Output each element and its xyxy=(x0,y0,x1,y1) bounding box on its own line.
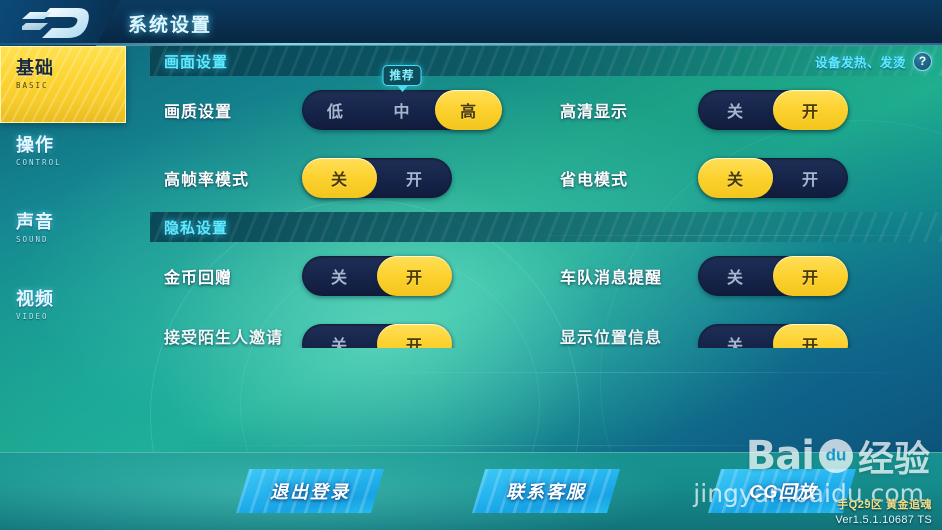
power-saving-off[interactable]: 关 xyxy=(698,158,773,198)
coin-gift-on[interactable]: 开 xyxy=(377,256,452,296)
settings-row: 接受陌生人邀请 关 开 显示位置信息 关 开 xyxy=(150,310,942,348)
high-framerate-off[interactable]: 关 xyxy=(302,158,377,198)
device-heat-label: 设备发热、发烫 xyxy=(815,52,906,71)
sidebar-item-label: 操作 xyxy=(16,135,126,156)
section-title: 画面设置 xyxy=(164,51,228,72)
page-title: 系统设置 xyxy=(128,0,212,46)
sidebar-item-sublabel: BASIC xyxy=(16,81,126,90)
setting-label: 车队消息提醒 xyxy=(546,264,698,288)
sidebar-item-sound[interactable]: 声音 SOUND xyxy=(0,200,126,277)
high-framerate-toggle[interactable]: 关 开 xyxy=(302,158,452,198)
hd-display-toggle[interactable]: 关 开 xyxy=(698,90,848,130)
settings-row: 画质设置 推荐 低 中 高 高清显示 关 开 xyxy=(150,76,942,144)
settings-row: 金币回赠 关 开 车队消息提醒 关 开 xyxy=(150,242,942,310)
setting-quality: 画质设置 推荐 低 中 高 xyxy=(150,90,546,130)
show-location-toggle[interactable]: 关 开 xyxy=(698,324,848,348)
setting-label: 金币回赠 xyxy=(150,264,302,288)
page-title-text: 系统设置 xyxy=(128,10,212,37)
setting-label: 显示位置信息 xyxy=(546,310,698,348)
stranger-invite-toggle[interactable]: 关 开 xyxy=(302,324,452,348)
setting-hd-display: 高清显示 关 开 xyxy=(546,90,942,130)
sidebar-item-sublabel: SOUND xyxy=(16,235,126,244)
server-name: 手Q29区 黄金追魂 xyxy=(835,496,932,512)
logout-button[interactable]: 退出登录 xyxy=(236,469,384,513)
device-heat-help[interactable]: 设备发热、发烫 ? xyxy=(815,46,932,76)
question-mark-icon[interactable]: ? xyxy=(913,52,932,71)
show-location-off[interactable]: 关 xyxy=(698,324,773,348)
setting-label: 画质设置 xyxy=(150,98,302,122)
power-saving-on[interactable]: 开 xyxy=(773,158,848,198)
team-message-toggle[interactable]: 关 开 xyxy=(698,256,848,296)
version-text: Ver1.5.1.10687 TS xyxy=(835,514,932,526)
quality-option-high[interactable]: 高 xyxy=(435,90,502,130)
section-header-display: 画面设置 设备发热、发烫 ? xyxy=(150,46,942,76)
setting-coin-gift: 金币回赠 关 开 xyxy=(150,256,546,296)
setting-team-message: 车队消息提醒 关 开 xyxy=(546,256,942,296)
game-settings-screen: 系统设置 基础 BASIC 操作 CONTROL 声音 SOUND 视频 VID… xyxy=(0,0,942,530)
sidebar-item-sublabel: CONTROL xyxy=(16,158,126,167)
coin-gift-toggle[interactable]: 关 开 xyxy=(302,256,452,296)
section-header-privacy: 隐私设置 xyxy=(150,212,942,242)
logout-button-label: 退出登录 xyxy=(270,478,350,504)
setting-label: 高清显示 xyxy=(546,98,698,122)
quality-option-medium[interactable]: 中 xyxy=(369,90,436,130)
hd-display-on[interactable]: 开 xyxy=(773,90,848,130)
section-rows-privacy: 金币回赠 关 开 车队消息提醒 关 开 接受陌生人邀请 xyxy=(150,242,942,348)
contact-support-button-label: 联系客服 xyxy=(506,478,586,504)
setting-stranger-invite: 接受陌生人邀请 关 开 xyxy=(150,310,546,348)
setting-power-saving: 省电模式 关 开 xyxy=(546,158,942,198)
setting-label: 高帧率模式 xyxy=(150,166,302,190)
stranger-invite-off[interactable]: 关 xyxy=(302,324,377,348)
sidebar-item-control[interactable]: 操作 CONTROL xyxy=(0,123,126,200)
sidebar-item-label: 基础 xyxy=(16,58,126,79)
settings-row: 高帧率模式 关 开 省电模式 关 开 xyxy=(150,144,942,212)
contact-support-button[interactable]: 联系客服 xyxy=(472,469,620,513)
show-location-on[interactable]: 开 xyxy=(773,324,848,348)
team-message-off[interactable]: 关 xyxy=(698,256,773,296)
team-message-on[interactable]: 开 xyxy=(773,256,848,296)
setting-show-location: 显示位置信息 关 开 xyxy=(546,310,942,348)
recommended-badge: 推荐 xyxy=(383,65,422,86)
hd-display-off[interactable]: 关 xyxy=(698,90,773,130)
cg-replay-button-label: CG回放 xyxy=(750,478,817,504)
bottom-action-bar: 退出登录 联系客服 CG回放 xyxy=(0,452,942,530)
quality-option-low[interactable]: 低 xyxy=(302,90,369,130)
power-saving-toggle[interactable]: 关 开 xyxy=(698,158,848,198)
action-buttons: 退出登录 联系客服 CG回放 xyxy=(236,469,858,513)
setting-label: 接受陌生人邀请 xyxy=(150,310,302,348)
title-bar: 系统设置 xyxy=(0,0,942,46)
setting-high-framerate: 高帧率模式 关 开 xyxy=(150,158,546,198)
header-underline xyxy=(0,43,942,45)
sidebar-item-basic[interactable]: 基础 BASIC xyxy=(0,46,126,123)
section-rows-display: 画质设置 推荐 低 中 高 高清显示 关 开 xyxy=(150,76,942,212)
sidebar-item-sublabel: VIDEO xyxy=(16,312,126,321)
stranger-invite-on[interactable]: 开 xyxy=(377,324,452,348)
quality-control-wrap: 推荐 低 中 高 xyxy=(302,90,502,130)
sidebar-item-label: 声音 xyxy=(16,212,126,233)
setting-label: 省电模式 xyxy=(546,166,698,190)
section-title: 隐私设置 xyxy=(164,217,228,238)
quality-segmented-control[interactable]: 低 中 高 xyxy=(302,90,502,130)
qq-speed-d-logo-icon xyxy=(22,6,92,40)
sidebar-item-label: 视频 xyxy=(16,289,126,310)
coin-gift-off[interactable]: 关 xyxy=(302,256,377,296)
high-framerate-on[interactable]: 开 xyxy=(377,158,452,198)
footer-info: 手Q29区 黄金追魂 Ver1.5.1.10687 TS xyxy=(835,496,932,526)
sidebar-item-video[interactable]: 视频 VIDEO xyxy=(0,277,126,354)
